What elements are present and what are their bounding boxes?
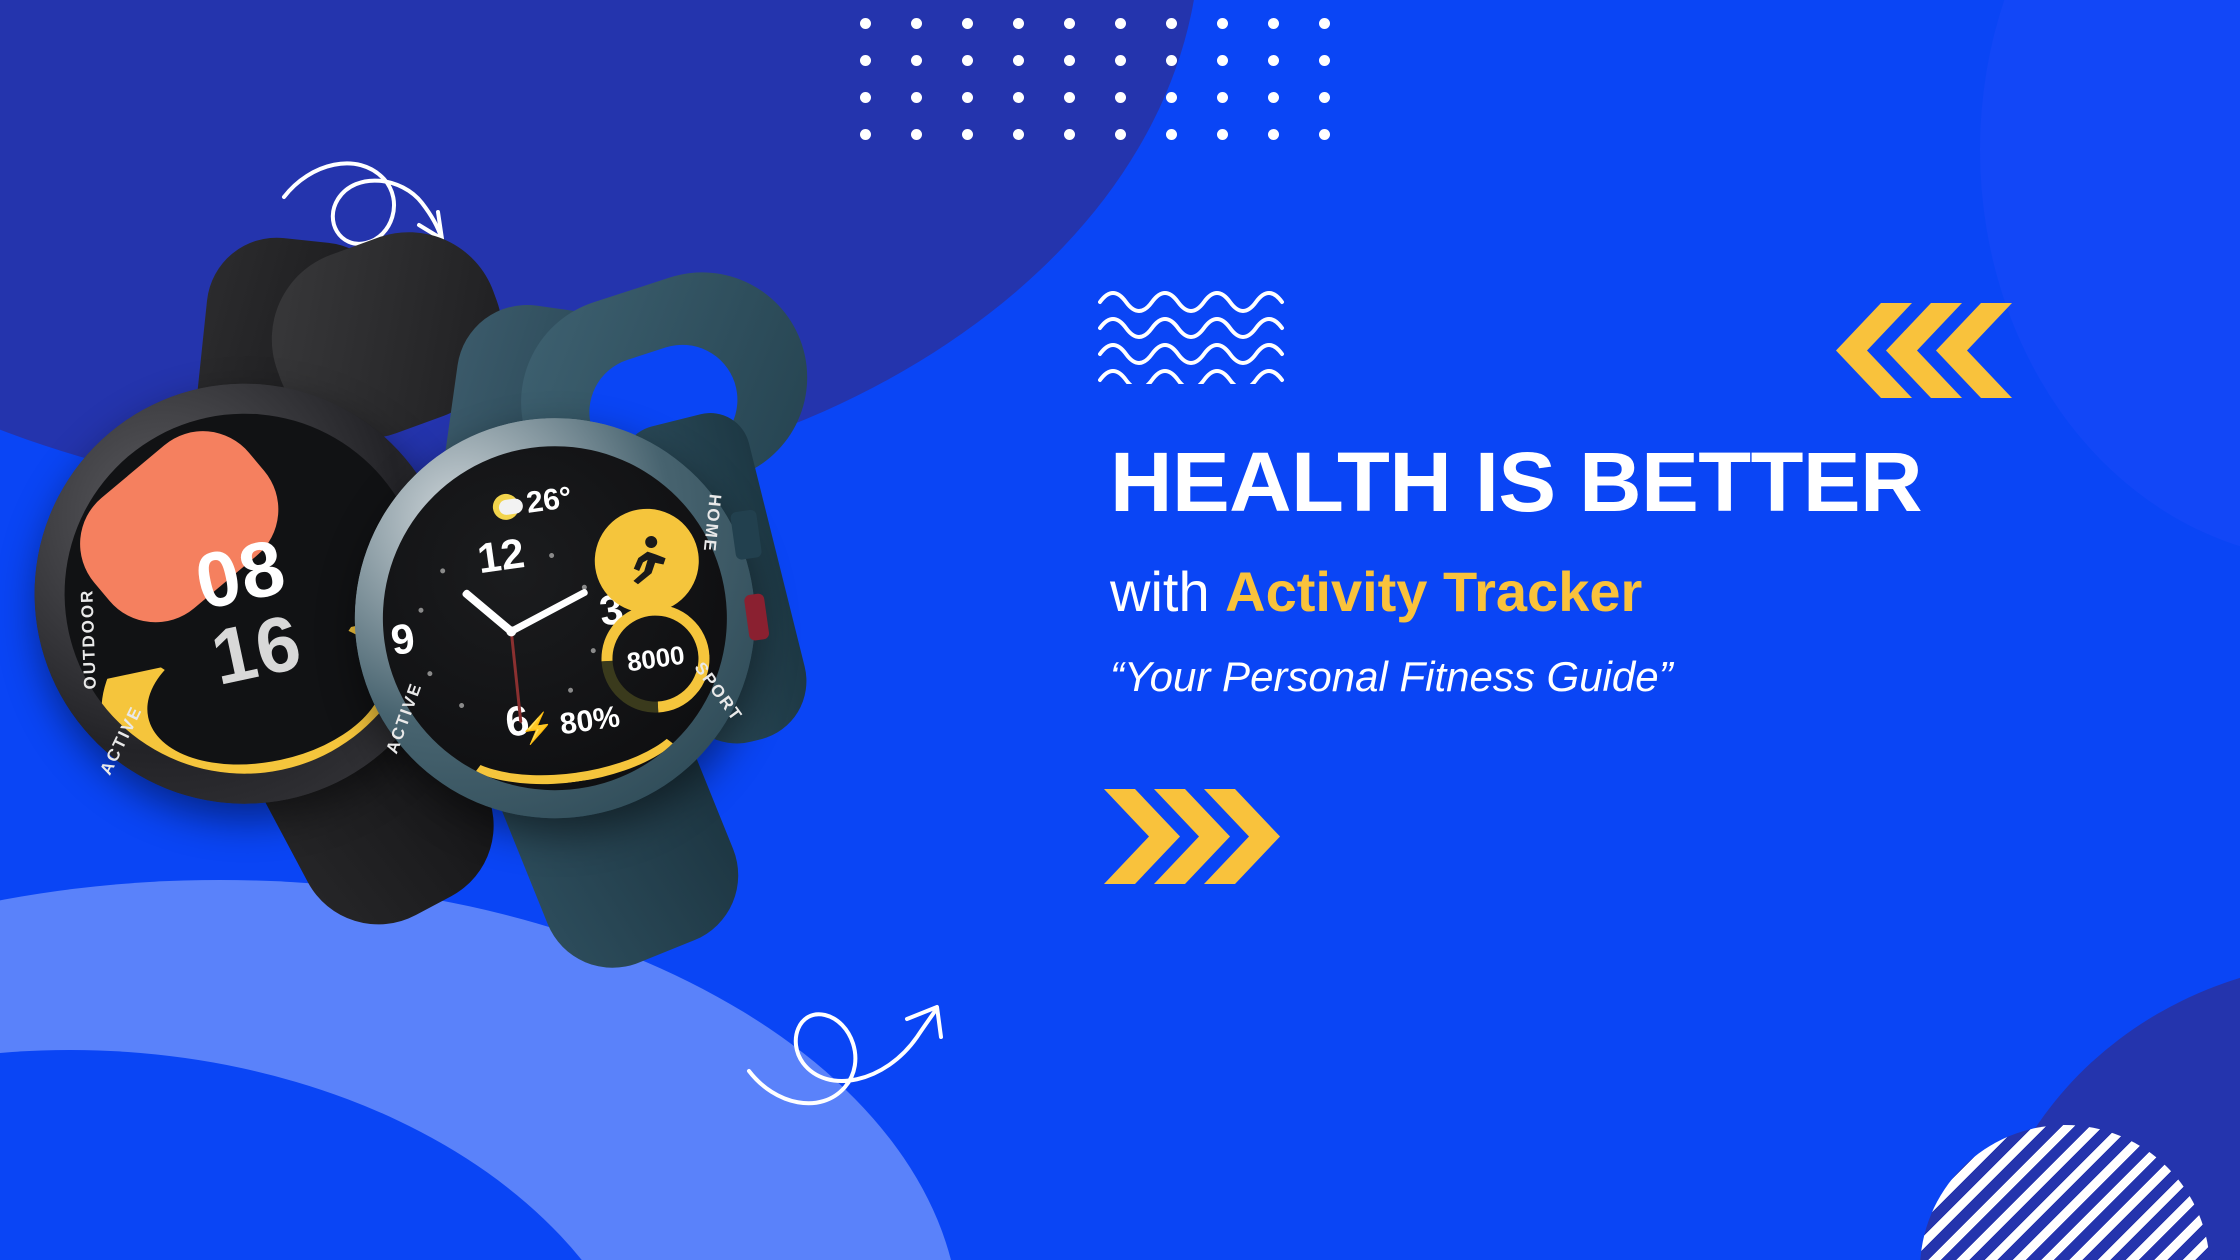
dot-grid-decoration (860, 18, 1330, 166)
wavy-lines-decoration (1098, 288, 1316, 389)
blob-bottom-left-main (0, 1050, 660, 1260)
curly-arrow-up-right-icon (735, 975, 960, 1125)
blob-right-dark-secondary (1980, 960, 2240, 1260)
smartwatch-teal: 26° 12 3 6 9 (314, 247, 1057, 973)
dot (911, 55, 922, 66)
dot (1013, 92, 1024, 103)
watch-teal-minute-hand (510, 588, 589, 635)
watch-black-bezel-left-label: OUTDOOR (77, 588, 101, 690)
striped-circle-decoration (1920, 1125, 2210, 1260)
watch-teal-hand-pin (506, 626, 517, 637)
dot (860, 18, 871, 29)
sun-behind-cloud-icon (491, 492, 520, 521)
watch-teal-weather: 26° (491, 481, 574, 526)
dot (962, 18, 973, 29)
dot (860, 92, 871, 103)
watch-teal-hour-hand (461, 588, 514, 634)
dot (962, 55, 973, 66)
dot (1268, 92, 1279, 103)
promo-banner: HEALTH IS BETTER with Activity Tracker “… (0, 0, 2240, 1260)
dot (1268, 129, 1279, 140)
dot-grid-row (860, 55, 1330, 66)
dot (1166, 18, 1177, 29)
dot (1115, 129, 1126, 140)
tagline: “Your Personal Fitness Guide” (1110, 656, 2170, 698)
dot (1064, 55, 1075, 66)
page-title: HEALTH IS BETTER (1110, 440, 2202, 524)
dot (1064, 129, 1075, 140)
dot-grid-row (860, 92, 1330, 103)
dot (1319, 18, 1330, 29)
dot (911, 129, 922, 140)
chevrons-right-decoration (1104, 789, 1290, 884)
dot (911, 92, 922, 103)
dot (1217, 18, 1228, 29)
headline-block: HEALTH IS BETTER with Activity Tracker “… (1110, 440, 2170, 698)
watch-teal-numeral-12: 12 (475, 532, 527, 580)
dot-grid-row (860, 18, 1330, 29)
dot (1166, 92, 1177, 103)
dot (1013, 18, 1024, 29)
dot (1115, 55, 1126, 66)
dot (1013, 129, 1024, 140)
watch-teal-numeral-9: 9 (388, 617, 417, 662)
dot (1115, 18, 1126, 29)
subtitle-highlight: Activity Tracker (1225, 560, 1642, 623)
dot (860, 55, 871, 66)
dot (962, 129, 973, 140)
dot (1166, 55, 1177, 66)
watch-teal-temperature: 26° (524, 481, 574, 521)
dot (1217, 92, 1228, 103)
dot (1064, 92, 1075, 103)
dot (1268, 55, 1279, 66)
dot (860, 129, 871, 140)
chevrons-left-decoration (1826, 303, 2012, 398)
dot (1166, 129, 1177, 140)
dot (1319, 129, 1330, 140)
subtitle-prefix: with (1110, 560, 1225, 623)
dot (1319, 92, 1330, 103)
dot (1115, 92, 1126, 103)
dot (1268, 18, 1279, 29)
blob-bottom-right-dark (1760, 1190, 2240, 1260)
dot-grid-row (860, 129, 1330, 140)
dot (1064, 18, 1075, 29)
dot (1319, 55, 1330, 66)
dot (1217, 55, 1228, 66)
subtitle: with Activity Tracker (1110, 564, 2170, 620)
dot (962, 92, 973, 103)
dot (1217, 129, 1228, 140)
dot (911, 18, 922, 29)
dot (1013, 55, 1024, 66)
